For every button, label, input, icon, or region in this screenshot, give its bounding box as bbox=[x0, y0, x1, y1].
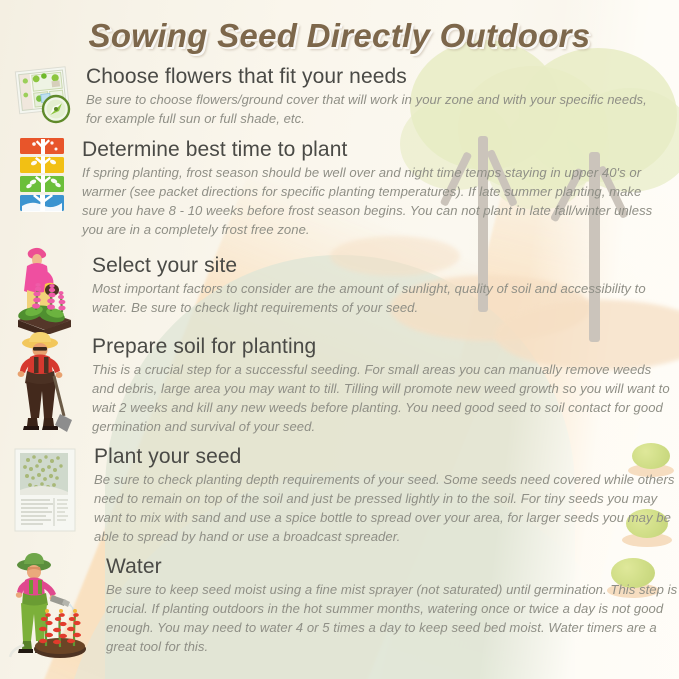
step-heading: Plant your seed bbox=[94, 445, 676, 469]
four-seasons-icon bbox=[12, 136, 74, 214]
step-determine-time: Determine best time to plant If spring p… bbox=[12, 136, 658, 239]
gardener-watering-icon bbox=[8, 549, 92, 661]
planter-box-flowers-icon bbox=[8, 244, 78, 334]
step-body: Be sure to keep seed moist using a fine … bbox=[106, 580, 679, 656]
step-body: Be sure to choose flowers/ground cover t… bbox=[86, 90, 658, 128]
step-select-site: Select your site Most important factors … bbox=[8, 244, 652, 334]
step-heading: Water bbox=[106, 555, 679, 579]
seed-packet-icon bbox=[10, 442, 82, 538]
step-prepare-soil: Prepare soil for planting This is a cruc… bbox=[8, 330, 672, 436]
step-body: Be sure to check planting depth requirem… bbox=[94, 470, 676, 546]
step-plant-seed: Plant your seed Be sure to check plantin… bbox=[10, 442, 676, 546]
garden-plan-map-icon bbox=[12, 63, 78, 129]
infographic-poster: Sowing Seed Directly Outdoors bbox=[0, 0, 679, 679]
step-body: This is a crucial step for a successful … bbox=[92, 360, 672, 436]
step-body: If spring planting, frost season should … bbox=[82, 163, 658, 239]
step-heading: Choose flowers that fit your needs bbox=[86, 65, 658, 89]
step-heading: Determine best time to plant bbox=[82, 138, 658, 162]
step-heading: Prepare soil for planting bbox=[92, 335, 672, 359]
step-water: Water Be sure to keep seed moist using a… bbox=[8, 549, 679, 661]
gardener-with-shovel-icon bbox=[8, 330, 78, 435]
step-heading: Select your site bbox=[92, 254, 652, 278]
page-title: Sowing Seed Directly Outdoors bbox=[0, 17, 679, 55]
step-body: Most important factors to consider are t… bbox=[92, 279, 652, 317]
step-choose-flowers: Choose flowers that fit your needs Be su… bbox=[12, 63, 658, 129]
